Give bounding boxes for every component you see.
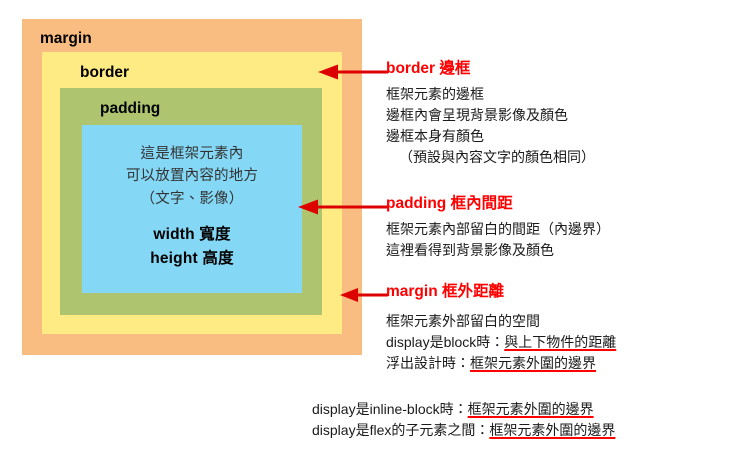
padding-arrow-icon bbox=[298, 198, 388, 216]
content-line-3: （文字、影像） bbox=[82, 188, 302, 210]
annotation-footer: display是inline-block時：框架元素外圍的邊界 display是… bbox=[312, 399, 750, 441]
annotation-margin-line-2-emphasis: 與上下物件的距離 bbox=[504, 334, 616, 350]
annotation-border-line-3: 邊框本身有顏色 bbox=[386, 126, 750, 147]
border-box-label: border bbox=[80, 65, 129, 81]
content-line-2: 可以放置內容的地方 bbox=[82, 165, 302, 187]
annotation-padding-heading: padding 框內間距 bbox=[386, 195, 750, 212]
content-line-1: 這是框架元素內 bbox=[82, 143, 302, 165]
annotation-border-line-2: 邊框內會呈現背景影像及顏色 bbox=[386, 105, 750, 126]
annotation-border-heading: border 邊框 bbox=[386, 60, 750, 77]
footer-line-1-prefix: display是inline-block時： bbox=[312, 401, 468, 417]
annotation-padding-line-2: 這裡看得到背景影像及顏色 bbox=[386, 240, 750, 261]
content-width-label: width 寬度 bbox=[82, 223, 302, 246]
margin-arrow-icon bbox=[340, 286, 388, 304]
annotation-border-body: 框架元素的邊框 邊框內會呈現背景影像及顏色 邊框本身有顏色 （預設與內容文字的顏… bbox=[386, 84, 750, 168]
annotation-border-line-4: （預設與內容文字的顏色相同） bbox=[386, 147, 750, 168]
annotation-margin-line-2-prefix: display是block時： bbox=[386, 334, 504, 350]
border-arrow-icon bbox=[318, 63, 388, 81]
annotation-margin-line-2: display是block時：與上下物件的距離 bbox=[386, 332, 750, 353]
content-box-layer: 這是框架元素內 可以放置內容的地方 （文字、影像） width 寬度 heigh… bbox=[82, 125, 302, 293]
annotation-padding-line-1: 框架元素內部留白的間距（內邊界） bbox=[386, 219, 750, 240]
padding-box-label: padding bbox=[100, 101, 160, 117]
annotation-padding-body: 框架元素內部留白的間距（內邊界） 這裡看得到背景影像及顏色 bbox=[386, 219, 750, 261]
annotation-margin-line-3-prefix: 浮出設計時： bbox=[386, 355, 470, 371]
annotation-margin-body: 框架元素外部留白的空間 display是block時：與上下物件的距離 浮出設計… bbox=[386, 311, 750, 374]
annotation-margin-line-3-emphasis: 框架元素外圍的邊界 bbox=[470, 355, 596, 371]
footer-line-2-prefix: display是flex的子元素之間： bbox=[312, 422, 489, 438]
footer-line-2-emphasis: 框架元素外圍的邊界 bbox=[489, 422, 615, 438]
content-box-text: 這是框架元素內 可以放置內容的地方 （文字、影像） width 寬度 heigh… bbox=[82, 143, 302, 270]
margin-box-label: margin bbox=[40, 31, 92, 47]
annotation-margin-line-3: 浮出設計時：框架元素外圍的邊界 bbox=[386, 353, 750, 374]
annotation-margin-heading: margin 框外距離 bbox=[386, 283, 750, 300]
annotation-margin: margin 框外距離 框架元素外部留白的空間 display是block時：與… bbox=[386, 283, 750, 374]
annotation-padding: padding 框內間距 框架元素內部留白的間距（內邊界） 這裡看得到背景影像及… bbox=[386, 195, 750, 261]
footer-line-1-emphasis: 框架元素外圍的邊界 bbox=[468, 401, 594, 417]
footer-line-1: display是inline-block時：框架元素外圍的邊界 bbox=[312, 399, 750, 420]
annotation-border-line-1: 框架元素的邊框 bbox=[386, 84, 750, 105]
box-model-diagram: margin border padding 這是框架元素內 可以放置內容的地方 … bbox=[22, 19, 362, 355]
footer-line-2: display是flex的子元素之間：框架元素外圍的邊界 bbox=[312, 420, 750, 441]
annotation-margin-line-1: 框架元素外部留白的空間 bbox=[386, 311, 750, 332]
annotation-border: border 邊框 框架元素的邊框 邊框內會呈現背景影像及顏色 邊框本身有顏色 … bbox=[386, 60, 750, 168]
content-height-label: height 高度 bbox=[82, 247, 302, 270]
